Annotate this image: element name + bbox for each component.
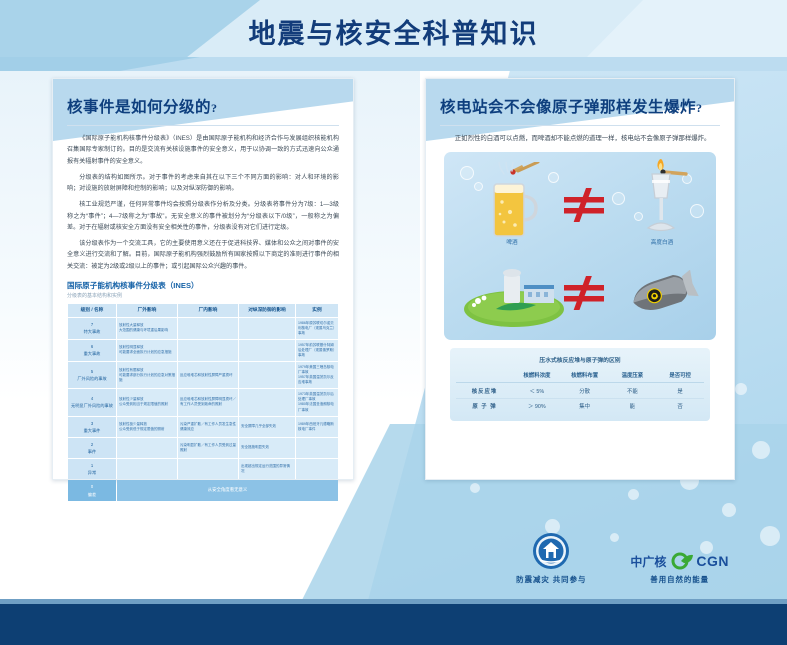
ines-cell-onsite: 污染明显扩散／有工作人员受到过量照射 (178, 438, 238, 458)
ines-table-row: 4无明显厂外风险的事故放射性少量释放公众受到相当于规定限值的照射反应堆堆芯和放射… (68, 389, 338, 415)
earthquake-seal-icon (532, 532, 570, 570)
ines-cell-defense (239, 318, 295, 339)
seal-logo-caption: 防震减灾 共同参与 (516, 574, 586, 585)
compare-col-layout: 核燃料布置 (561, 368, 609, 383)
ines-cell-offsite: 放射性有限释放可能要求部分执行计划的应急对策措施 (117, 362, 177, 388)
compare-cell: 是 (656, 383, 704, 399)
banner-underbar-wedge (0, 57, 200, 71)
ines-cell-offsite: 放射性大量释放大范围的健康与环境重后果影响 (117, 318, 177, 339)
left-heading-text: 核事件是如何分级的 (67, 99, 211, 116)
ines-cell-onsite (178, 340, 238, 361)
beer-mug-icon (482, 162, 544, 248)
left-paragraph: 该分级表作为一个交流工具，它的主要使用意义还在于促进科技界、媒体和公众之间对事件… (67, 238, 339, 272)
cgn-chinese-text: 中广核 (630, 553, 666, 570)
bubble-icon (460, 166, 474, 180)
ines-cell-level: 3重大事件 (68, 417, 116, 437)
ines-cell-level: 7特大事故 (68, 318, 116, 339)
ines-cell-onsite: 反应堆堆芯和放射性屏障明显损坏／有工作人员受到致命的照射 (178, 389, 238, 415)
left-heading-qmark: ? (211, 101, 218, 115)
bubble-icon (548, 172, 559, 183)
liquor-glass-icon (634, 158, 690, 248)
compare-cell: 能 (609, 398, 657, 413)
ines-col-defense: 对纵深防御的影响 (239, 304, 295, 317)
right-heading-text: 核电站会不会像原子弹那样发生爆炸 (440, 99, 696, 116)
cgn-leaf-icon (668, 552, 694, 570)
compare-cell: 集中 (561, 398, 609, 413)
ines-cell-onsite (178, 318, 238, 339)
ines-cell-level: 4无明显厂外风险的事故 (68, 389, 116, 415)
beer-label: 啤酒 (482, 238, 542, 246)
ines-col-example: 实例 (296, 304, 338, 317)
compare-cell: 不能 (609, 383, 657, 399)
page-title: 地震与核安全科普知识 (0, 12, 787, 51)
cgn-logo-caption: 善用自然的能量 (650, 574, 709, 585)
ines-cell-offsite: 放射性明显释放可能要求全面执行计划的应急措施 (117, 340, 177, 361)
bubble-icon (612, 192, 625, 205)
ines-cell-level: 1异常 (68, 459, 116, 479)
compare-col-blank (456, 368, 513, 383)
ines-cell-onsite: 污染严重扩散／有工作人员发生急性健康效应 (178, 417, 238, 437)
left-paragraph: 《国际原子能机构核事件分级表》（INES）是由国际原子能机构和经济合作与发展组织… (67, 133, 339, 167)
compare-row-label: 核反应堆 (456, 383, 513, 399)
ines-table: 级别 / 名称 厂外影响 厂内影响 对纵深防御的影响 实例 7特大事故放射性大量… (67, 303, 339, 502)
ines-cell-defense (239, 362, 295, 388)
ines-col-onsite: 厂内影响 (178, 304, 238, 317)
ines-cell-example: 1989年西班牙凡德略斯核电厂事件 (296, 417, 338, 437)
right-card-heading: 核电站会不会像原子弹那样发生爆炸? (440, 95, 720, 117)
ines-table-row: 3重大事件放射性极少量释放公众受到低于规定限值的照射污染严重扩散／有工作人员发生… (68, 417, 338, 437)
compare-table-row: 原 子 弹＞ 90%集中能否 (456, 398, 704, 413)
ines-cell-defense: 安全屏障几乎全部失效 (239, 417, 295, 437)
right-paragraph: 正如烈性的白酒可以点燃，而啤酒却不能点燃的道理一样，核电站不会像原子弹那样爆炸。 (442, 133, 718, 145)
compare-table-title: 压水式核反应堆与原子弹的区别 (456, 353, 704, 368)
bubble-decoration (722, 503, 736, 517)
compare-cell: ＞ 90% (513, 398, 561, 413)
compare-header-row: 核燃料浓度 核燃料布置 温度压紧 是否可控 (456, 368, 704, 383)
ines-cell-onsite: 反应堆堆芯和放射性屏障严重损坏 (178, 362, 238, 388)
poster-stage: 地震与核安全科普知识 核事件是如何分级的? (0, 0, 787, 645)
ines-cell-example (296, 459, 338, 479)
ines-cell-level: 2事件 (68, 438, 116, 458)
ines-table-row: 1异常出现超出规定运行范围的异常情况 (68, 459, 338, 479)
compare-col-controllable: 是否可控 (656, 368, 704, 383)
right-heading-qmark: ? (696, 101, 703, 115)
bubble-decoration (628, 489, 639, 500)
left-card-heading: 核事件是如何分级的? (67, 95, 339, 117)
ines-cell-defense (239, 340, 295, 361)
ines-cell-example (296, 438, 338, 458)
ines-table-row: 7特大事故放射性大量释放大范围的健康与环境重后果影响1986年原苏联切尔诺贝利核… (68, 318, 338, 339)
compare-col-pressure: 温度压紧 (609, 368, 657, 383)
illustration-panel: 啤酒 (444, 152, 716, 340)
ines-cell-example: 1979年美国三哩岛核电厂事故1957年英国温茨凯尔反应堆事故 (296, 362, 338, 388)
compare-cell: 否 (656, 398, 704, 413)
ines-cell-offsite (117, 459, 177, 479)
ines-table-subtitle: 分级表的基本结构和实例 (67, 292, 339, 299)
bubble-icon (690, 204, 704, 218)
footer-bar (0, 604, 787, 645)
ines-cell-offsite (117, 438, 177, 458)
ines-cell-example: 1973年英国温茨凯尔后处理厂事故1980年法国圣洛朗核电厂事故 (296, 389, 338, 415)
ines-cell-defense: 安全措施明显失效 (239, 438, 295, 458)
atomic-bomb-icon (626, 270, 700, 316)
cgn-wordmark: 中广核 CGN (630, 552, 729, 570)
ines-cell-level0-note: 从安全角度看无意义 (117, 480, 338, 500)
left-paragraph: 分级表的结构如图所示。对于事件的考虑来自其在以下三个不同方面的影响：对人和环境的… (67, 172, 339, 195)
bubble-decoration (470, 483, 480, 493)
ines-cell-defense (239, 389, 295, 415)
liquor-label: 高度白酒 (632, 238, 692, 246)
ines-cell-level: 5厂外风险的事故 (68, 362, 116, 388)
ines-cell-example: 1986年原苏联切尔诺贝利核电厂（现属乌克兰）事故 (296, 318, 338, 339)
ines-table-row: 5厂外风险的事故放射性有限释放可能要求部分执行计划的应急对策措施反应堆堆芯和放射… (68, 362, 338, 388)
ines-table-row: 6重大事故放射性明显释放可能要求全面执行计划的应急措施1957年前苏联基什特姆后… (68, 340, 338, 361)
not-equal-icon (562, 276, 606, 310)
ines-table-title: 国际原子能机构核事件分级表（INES） (67, 280, 339, 291)
ines-cell-defense: 出现超出规定运行范围的异常情况 (239, 459, 295, 479)
compare-table-row: 核反应堆＜ 5%分散不能是 (456, 383, 704, 399)
compare-cell: ＜ 5% (513, 383, 561, 399)
banner-underbar (0, 57, 787, 71)
ines-header-row: 级别 / 名称 厂外影响 厂内影响 对纵深防御的影响 实例 (68, 304, 338, 317)
compare-table: 核燃料浓度 核燃料布置 温度压紧 是否可控 核反应堆＜ 5%分散不能是原 子 弹… (456, 368, 704, 414)
compare-row-label: 原 子 弹 (456, 398, 513, 413)
bubble-decoration (735, 383, 747, 395)
right-heading-rule (440, 125, 720, 126)
ines-cell-onsite (178, 459, 238, 479)
ines-table-row-level0: 0偏差从安全角度看无意义 (68, 480, 338, 500)
ines-table-row: 2事件污染明显扩散／有工作人员受到过量照射安全措施明显失效 (68, 438, 338, 458)
nuclear-plant-icon (462, 257, 566, 329)
ines-cell-offsite: 放射性少量释放公众受到相当于规定限值的照射 (117, 389, 177, 415)
ines-col-level: 级别 / 名称 (68, 304, 116, 317)
compare-cell: 分散 (561, 383, 609, 399)
bubble-decoration (760, 526, 780, 546)
logo-row: 防震减灾 共同参与 中广核 CGN 善用自然的能量 (516, 532, 729, 585)
ines-cell-example: 1957年前苏联基什特姆后处理厂（现属俄罗斯）事故 (296, 340, 338, 361)
ines-cell-offsite: 放射性极少量释放公众受到低于规定限值的照射 (117, 417, 177, 437)
left-content-card: 核事件是如何分级的? 《国际原子能机构核事件分级表》（INES）是由国际原子能机… (52, 78, 354, 480)
cgn-english-text: CGN (696, 553, 729, 569)
seal-logo-unit: 防震减灾 共同参与 (516, 532, 586, 585)
bubble-decoration (752, 441, 770, 459)
left-heading-rule (67, 125, 339, 126)
right-content-card: 核电站会不会像原子弹那样发生爆炸? 正如烈性的白酒可以点燃，而啤酒却不能点燃的道… (425, 78, 735, 480)
compare-col-concentration: 核燃料浓度 (513, 368, 561, 383)
not-equal-icon (562, 188, 606, 222)
ines-cell-level: 0偏差 (68, 480, 116, 500)
ines-col-offsite: 厂外影响 (117, 304, 177, 317)
cgn-logo-unit: 中广核 CGN 善用自然的能量 (630, 552, 729, 585)
compare-table-panel: 压水式核反应堆与原子弹的区别 核燃料浓度 核燃料布置 温度压紧 是否可控 核反应… (450, 348, 710, 421)
page-banner: 地震与核安全科普知识 (0, 0, 787, 57)
ines-cell-level: 6重大事故 (68, 340, 116, 361)
left-paragraph: 核工业规范严谨，任何异常事件均会按照分级表作分析及分类。分级表将事件分为7级：1… (67, 199, 339, 233)
